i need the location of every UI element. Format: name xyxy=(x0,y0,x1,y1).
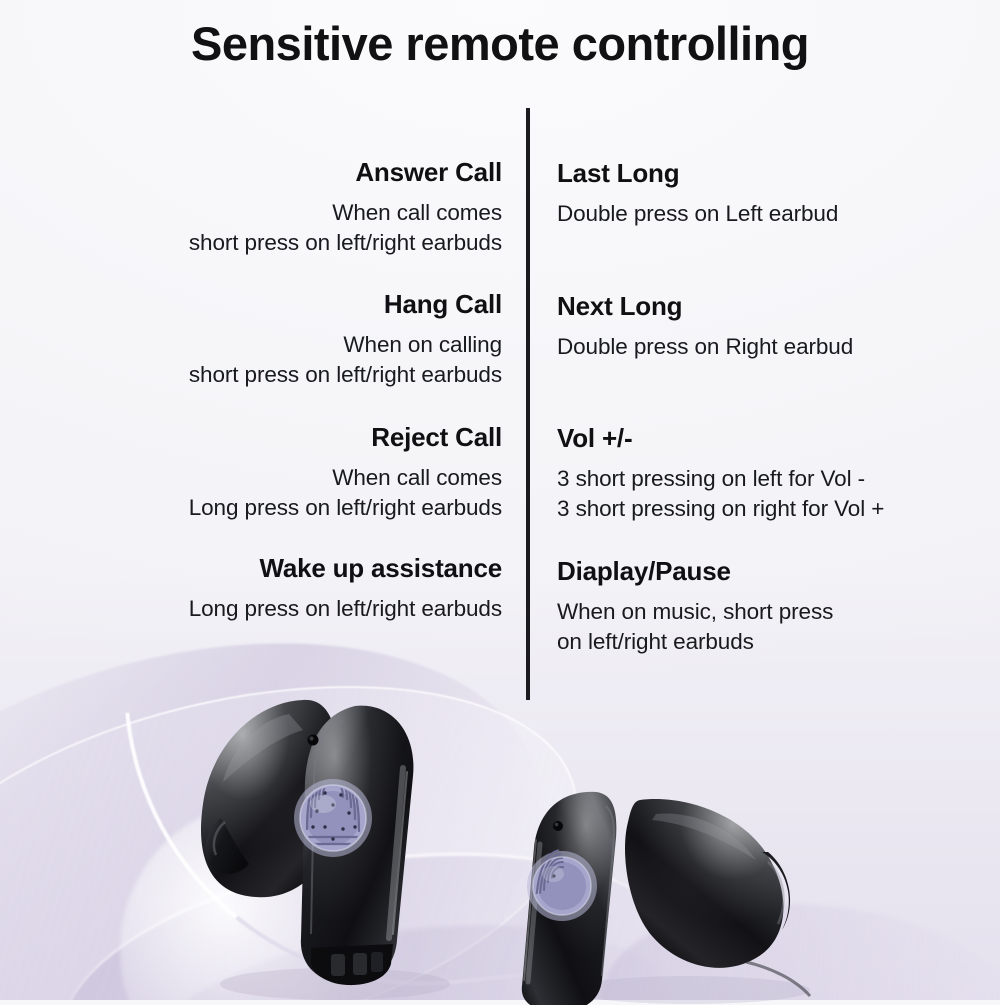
microphone-hole-highlight xyxy=(555,823,559,827)
microphone-hole xyxy=(553,821,563,831)
earbud-ear-tip xyxy=(625,799,810,996)
microphone-hole xyxy=(308,735,319,746)
product-photo-earbuds xyxy=(0,0,1000,1000)
right-earbud-image xyxy=(500,790,830,1005)
microphone-hole-highlight xyxy=(310,737,314,741)
left-earbud-image xyxy=(185,672,495,1002)
